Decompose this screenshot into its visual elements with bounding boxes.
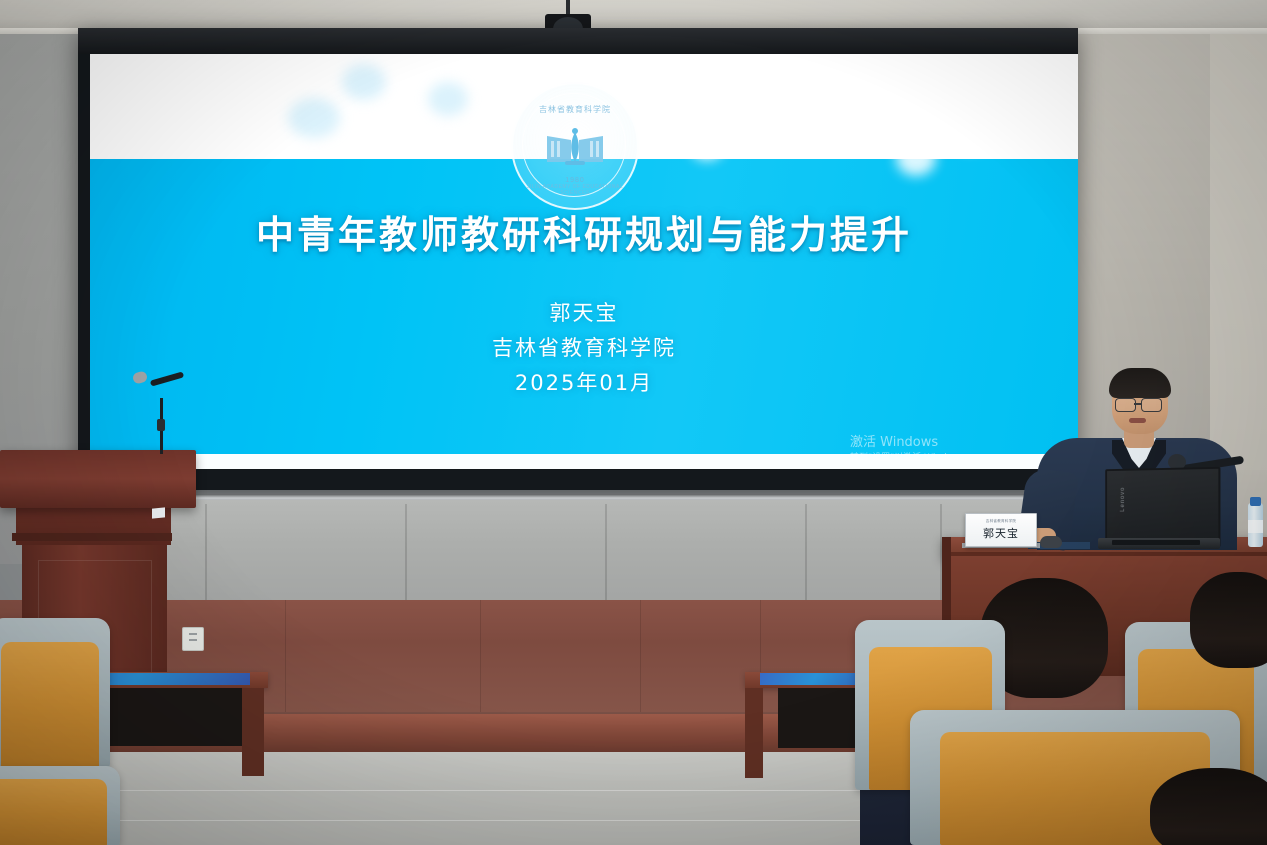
audience-seat (0, 766, 120, 845)
emblem-arc-bottom-text: JILIN ACADEMY OF EDUCATIONAL SCIENCES (513, 184, 637, 196)
presenter-hair (1109, 368, 1171, 398)
audience-member-head (1150, 768, 1267, 845)
eyeglasses-icon (1115, 398, 1136, 412)
decor-bubble (288, 98, 340, 138)
slide-date: 2025年01月 (90, 367, 1078, 397)
slide-organization: 吉林省教育科学院 (90, 332, 1078, 362)
outlet-slot-icon (189, 633, 197, 635)
computer-mouse[interactable] (1040, 536, 1062, 548)
audience-member-head (1190, 572, 1267, 668)
decor-bubble (780, 90, 840, 138)
audience-seat (0, 618, 110, 768)
decor-bubble (428, 82, 468, 116)
outlet-slot-icon (189, 639, 197, 641)
seat-wood-panel (1, 642, 99, 768)
presenter-mouth (1129, 418, 1146, 423)
decor-bubble (690, 60, 762, 116)
academy-emblem: 吉林省教育科学院 1980 JILIN ACADEMY OF EDUCATION… (511, 82, 639, 210)
decor-bubble (868, 62, 954, 130)
acoustic-wall-panels (92, 500, 1077, 610)
decor-bubble (216, 68, 282, 114)
projected-slide: 吉林省教育科学院 1980 JILIN ACADEMY OF EDUCATION… (90, 54, 1078, 469)
eyeglasses-bridge (1134, 403, 1141, 405)
watermark-line-1: 激活 Windows (850, 434, 1060, 452)
eyeglasses-icon (1141, 398, 1162, 412)
bottle-label (1248, 520, 1263, 533)
podium-card (152, 507, 165, 518)
decor-bubble (690, 130, 724, 160)
slide-presenter-name: 郭天宝 (90, 297, 1078, 327)
desk-nameplate: 吉林省教育科学院 郭天宝 (965, 513, 1037, 547)
wooden-podium (0, 450, 196, 508)
projection-screen-housing (78, 28, 1078, 54)
stage-seam (480, 600, 481, 712)
slide-title: 中青年教师教研科研规划与能力提升 (90, 204, 1078, 259)
stage-seam (640, 600, 641, 712)
panel-seam (405, 504, 407, 610)
open-book-emblem-icon (543, 128, 607, 168)
laptop-keyboard[interactable] (1112, 540, 1200, 545)
laptop-screen[interactable]: Lenovo (1105, 467, 1220, 548)
decor-bubble (342, 64, 386, 100)
nameplate-name-text: 郭天宝 (983, 525, 1019, 541)
nameplate-logo-text: 吉林省教育科学院 (986, 519, 1016, 524)
decor-bubble (896, 140, 936, 176)
lecture-hall-scene: 吉林省教育科学院 1980 JILIN ACADEMY OF EDUCATION… (0, 0, 1267, 845)
podium-mic-joint (157, 419, 165, 431)
watermark-line-2: 转到"设置"以激活 Windows。 (850, 452, 1060, 464)
windows-activation-watermark: 激活 Windows 转到"设置"以激活 Windows。 (850, 434, 1060, 464)
bottle-cap (1250, 497, 1261, 506)
laptop-brand-label: Lenovo (1120, 487, 1126, 512)
podium-ledge (12, 533, 172, 541)
panel-seam (205, 504, 207, 610)
panel-seam (805, 504, 807, 610)
desk-leg (745, 688, 763, 778)
wall-power-outlet[interactable] (182, 627, 204, 651)
stage-seam (285, 600, 286, 712)
emblem-arc-top-text: 吉林省教育科学院 (513, 104, 637, 115)
desk-leg (242, 688, 264, 776)
seat-wood-panel (0, 779, 107, 845)
decor-bubble (942, 104, 998, 150)
panel-seam (605, 504, 607, 610)
emblem-year: 1980 (513, 177, 637, 184)
